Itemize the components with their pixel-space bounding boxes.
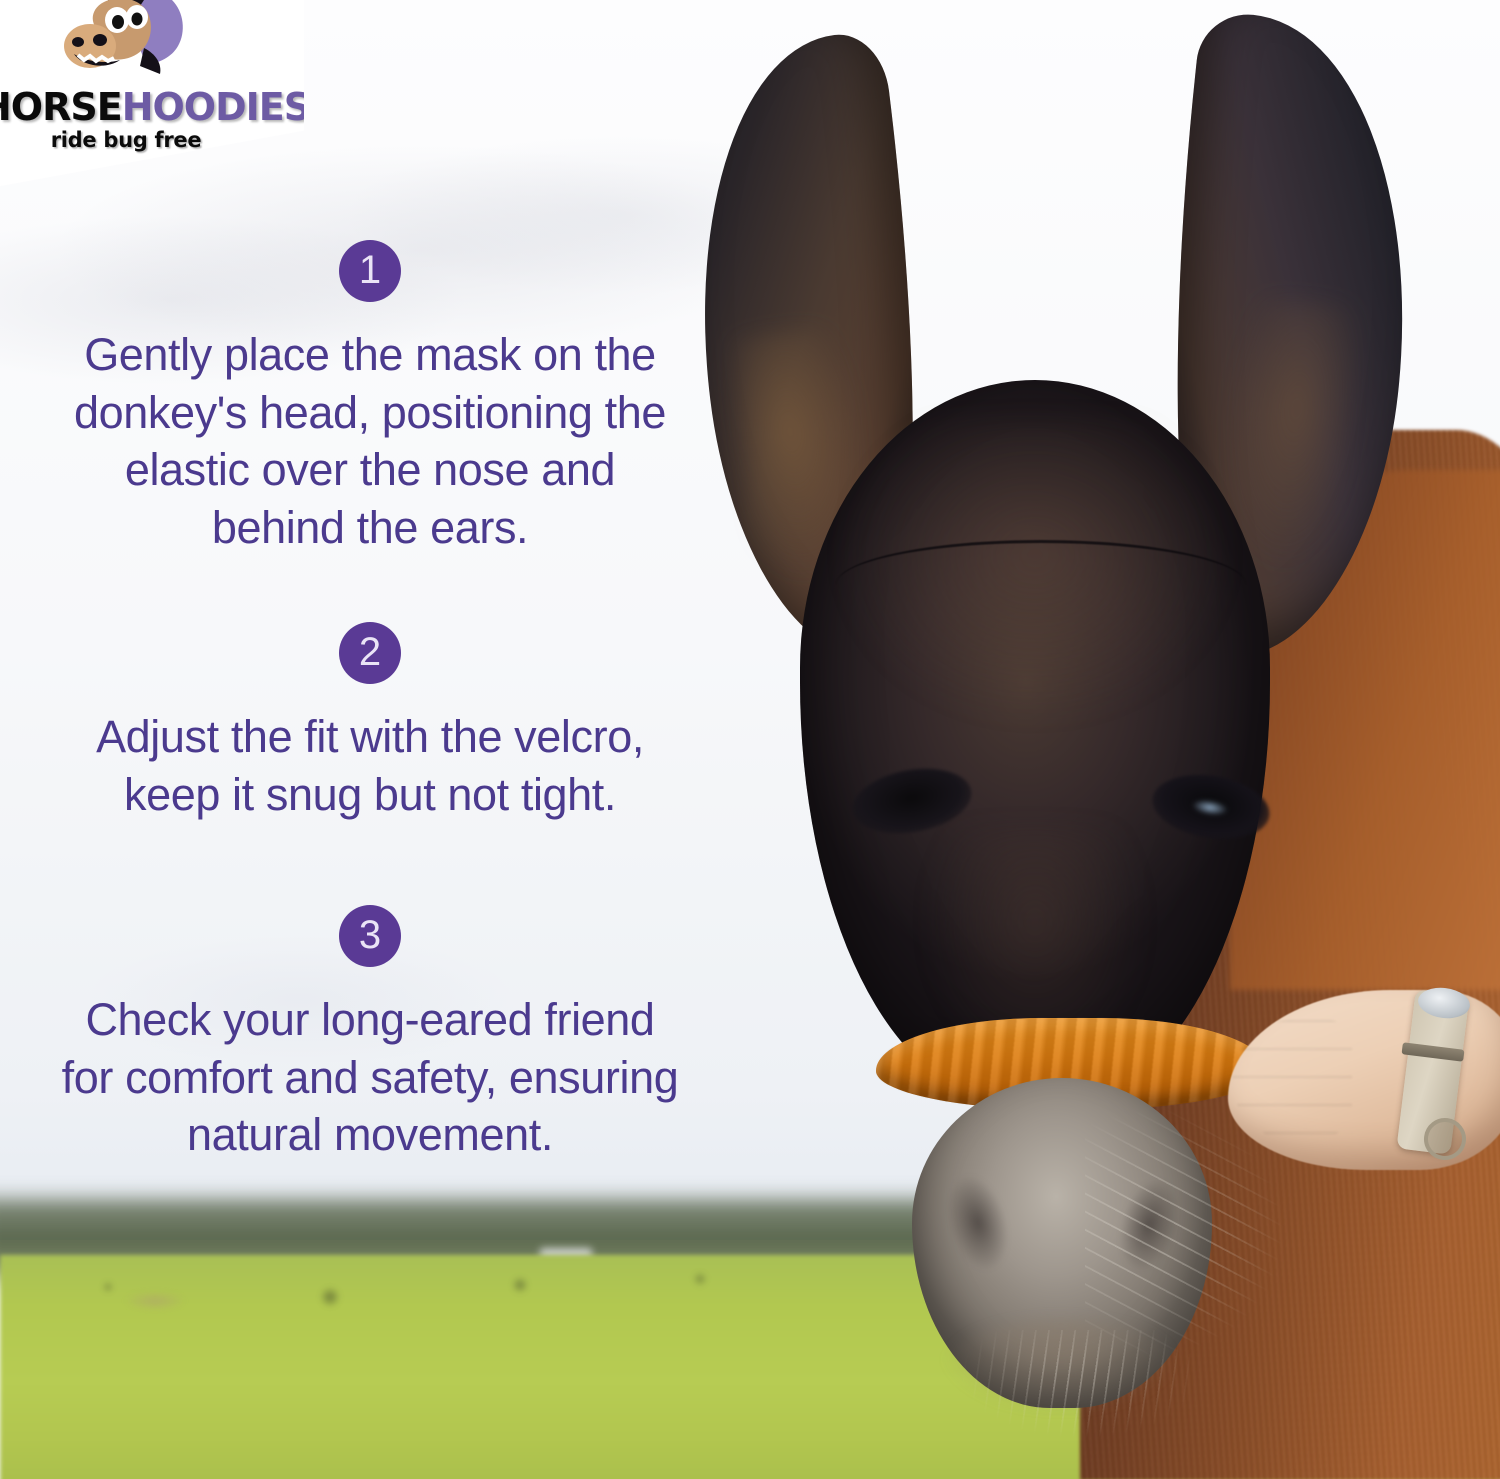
donkey-whiskers-chin xyxy=(930,1330,1230,1479)
human-fingers xyxy=(1232,1020,1352,1140)
step-2: 2 Adjust the fit with the velcro, keep i… xyxy=(0,622,740,823)
logo-word-horse: HORSE xyxy=(0,85,122,129)
cartoon-horse-head-icon xyxy=(60,0,192,90)
step-2-text: Adjust the fit with the velcro, keep it … xyxy=(0,708,740,823)
step-3-number-badge: 3 xyxy=(339,905,401,967)
step-3-text: Check your long-eared friend for comfort… xyxy=(0,991,740,1164)
step-2-number-badge: 2 xyxy=(339,622,401,684)
step-1-text: Gently place the mask on the donkey's he… xyxy=(0,326,740,556)
logo-wordmark: HORSEHOODIES xyxy=(0,88,272,126)
product-instruction-graphic: HORSEHOODIES ride bug free 1 Gently plac… xyxy=(0,0,1500,1479)
logo-word-hoodies: HOODIES xyxy=(122,85,310,129)
fly-mask-seam xyxy=(836,540,1246,629)
step-1-number-badge: 1 xyxy=(339,240,401,302)
step-1: 1 Gently place the mask on the donkey's … xyxy=(0,240,740,556)
step-3: 3 Check your long-eared friend for comfo… xyxy=(0,905,740,1164)
